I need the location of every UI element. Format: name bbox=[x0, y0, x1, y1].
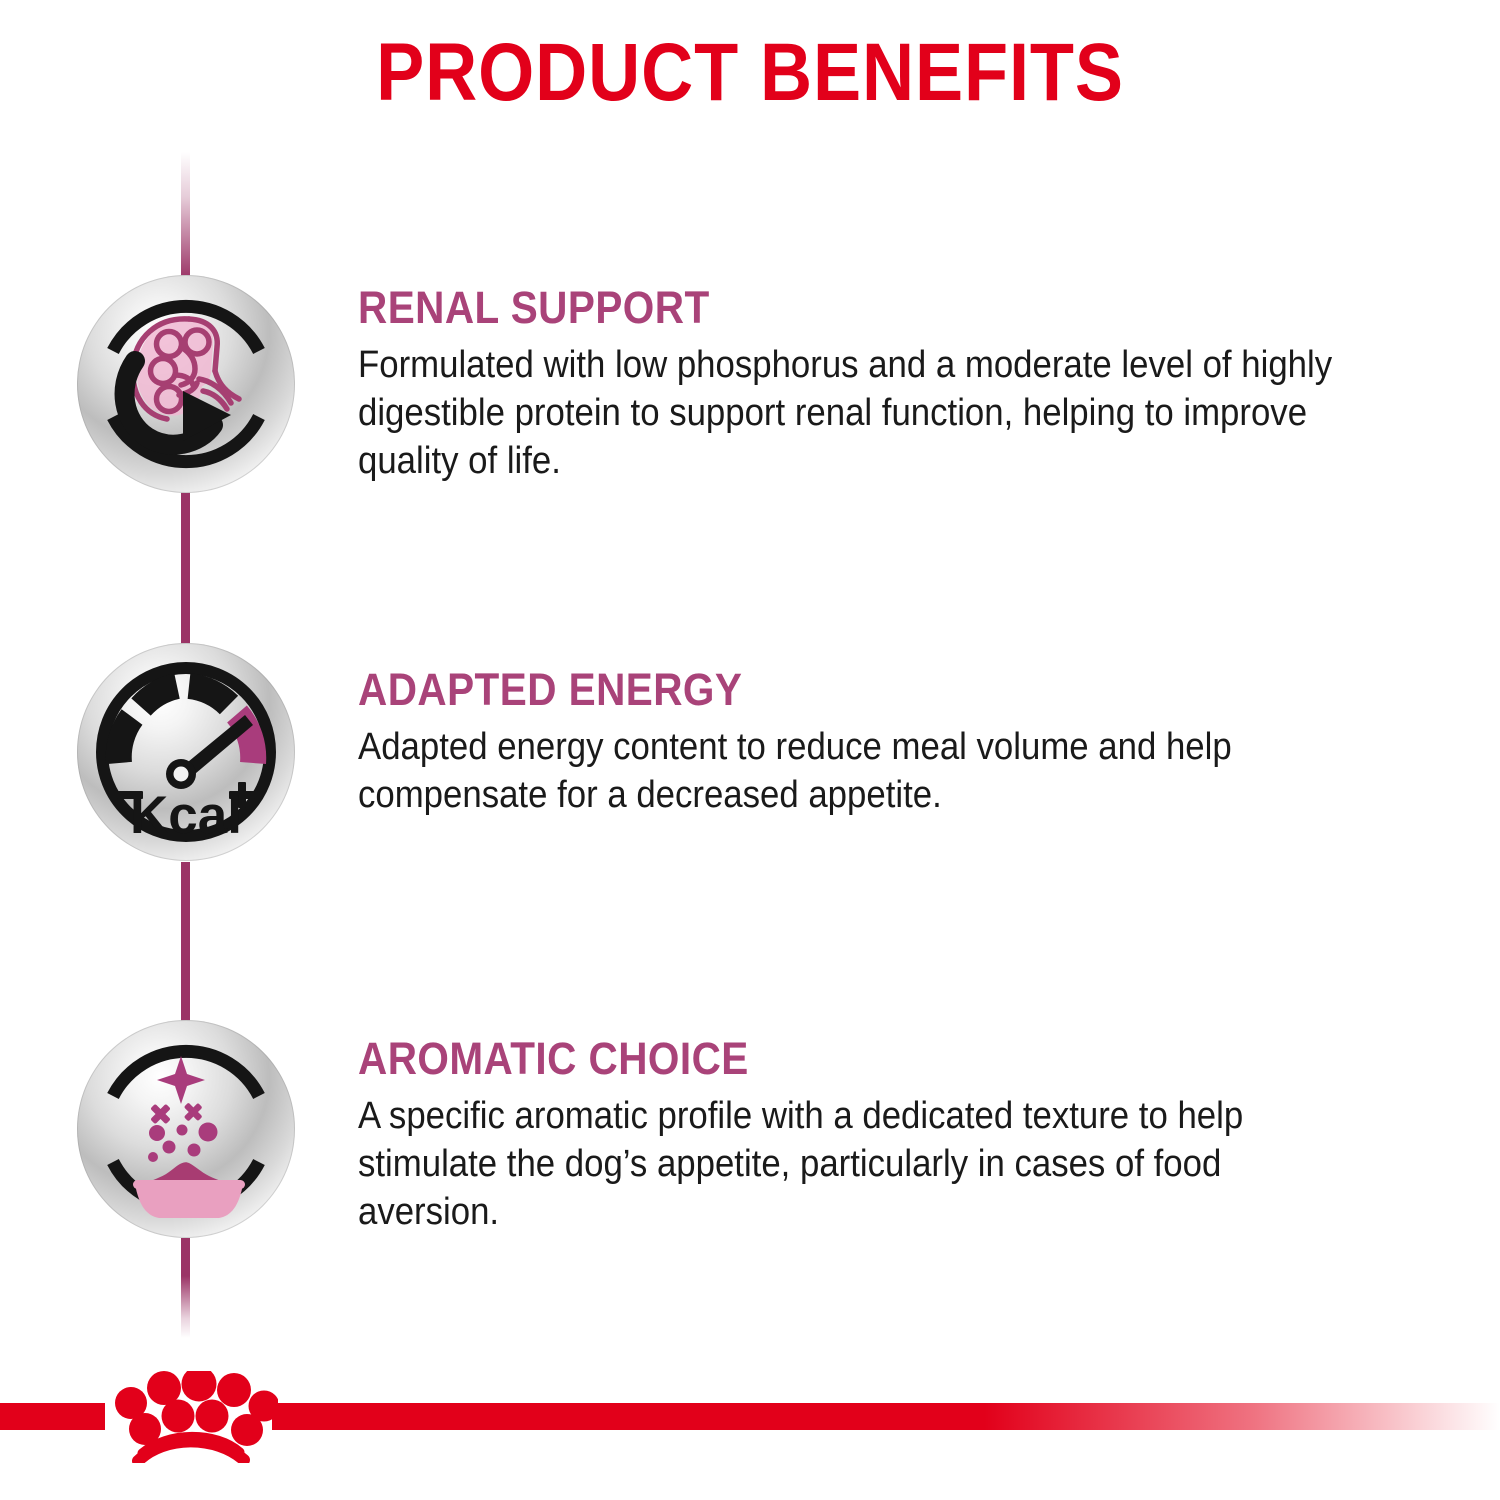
footer-bar-right bbox=[272, 1403, 1500, 1430]
connector-line-segment-2 bbox=[181, 862, 190, 1022]
benefit-body: Adapted energy content to reduce meal vo… bbox=[358, 723, 1337, 819]
kcal-gauge-icon: Kcal bbox=[77, 643, 295, 861]
aromatic-bowl-icon bbox=[77, 1020, 295, 1238]
product-benefits-page: PRODUCT BENEFITS bbox=[0, 0, 1500, 1500]
page-title: PRODUCT BENEFITS bbox=[90, 26, 1410, 120]
benefit-text-renal-support: RENAL SUPPORT Formulated with low phosph… bbox=[358, 283, 1428, 485]
footer-bar-left bbox=[0, 1403, 105, 1430]
benefit-title: ADAPTED ENERGY bbox=[358, 665, 1321, 715]
svg-text:Kcal: Kcal bbox=[130, 786, 242, 845]
connector-line-bottom bbox=[181, 1238, 190, 1338]
kidney-renal-icon bbox=[77, 275, 295, 493]
benefit-text-adapted-energy: ADAPTED ENERGY Adapted energy content to… bbox=[358, 665, 1428, 819]
connector-line-segment-1 bbox=[181, 492, 190, 647]
footer bbox=[0, 1403, 1500, 1437]
benefit-body: Formulated with low phosphorus and a mod… bbox=[358, 341, 1337, 485]
royal-canin-crown-logo bbox=[98, 1371, 278, 1463]
benefit-title: AROMATIC CHOICE bbox=[358, 1034, 1321, 1084]
benefit-title: RENAL SUPPORT bbox=[358, 283, 1321, 333]
benefit-body: A specific aromatic profile with a dedic… bbox=[358, 1092, 1337, 1236]
benefit-text-aromatic-choice: AROMATIC CHOICE A specific aromatic prof… bbox=[358, 1034, 1428, 1236]
